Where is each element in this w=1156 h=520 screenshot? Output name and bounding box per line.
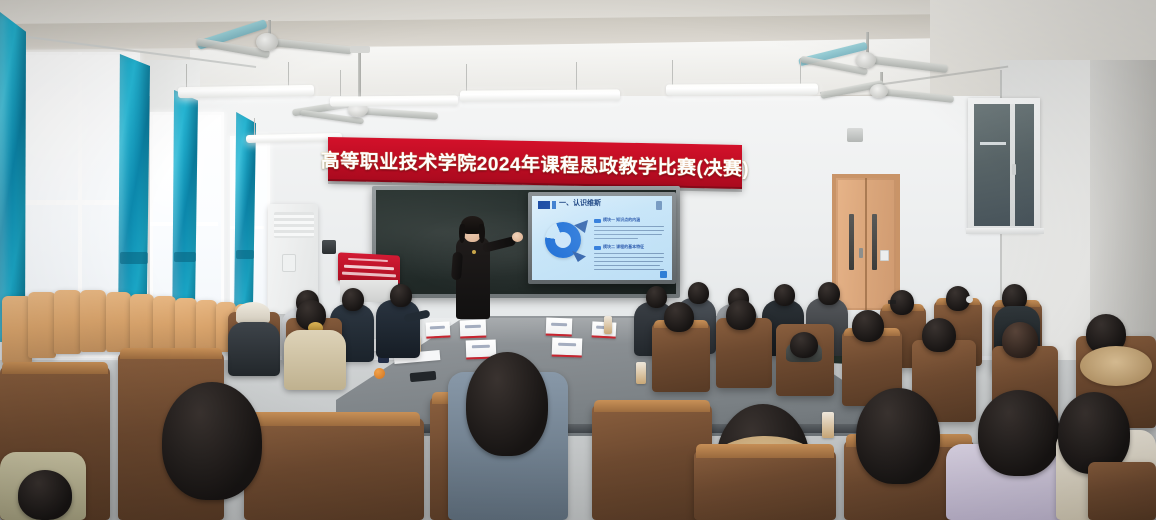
slide-title: 一、认识维斯 [559,199,601,209]
wall-control-panel [322,240,336,254]
table-placard-6 [426,321,451,338]
stacked-chair-2 [28,292,56,358]
lamp-1-wire-b [288,62,289,86]
slide-title-accent [538,201,550,209]
chair-front-6 [694,450,836,520]
audience-front-7-head [856,388,940,484]
stacked-chair-8 [175,298,197,352]
slide-section-1-heading: 模块一 知识点的内涵 [603,217,640,223]
slide-donut-hole [555,232,571,248]
judge-8-head [818,282,840,305]
slide-section-2-heading: 模块二 课程的基本特征 [603,244,644,250]
classroom-photo-scene: 高等职业技术学院2024年课程思政教学比赛(决赛) 一、认识维斯 模块一 知识点… [0,0,1156,520]
judge-7-head [774,284,795,306]
table-placard-4-text [558,343,576,347]
chair-front-8 [1088,462,1156,520]
slide-footer-icon [660,271,667,278]
door-center-seam [865,178,867,310]
audience-mid-4-head [726,300,756,330]
audience-mid-1-beret [236,302,270,324]
table-placard-2-text [472,345,490,349]
slide-bullet-line-5 [594,269,664,270]
lamp-1-wire [186,64,187,88]
slide-section-1-marker [594,219,601,223]
table-placard-1-text [465,325,481,329]
chair-front-6-top [696,444,834,458]
lamp-3-wire-b [576,62,577,90]
audience-front-4-head [466,352,548,456]
interior-window-light [980,142,1006,145]
slide-body-line-2 [594,230,664,231]
table-placard-6-text [430,326,445,330]
slide-title-accent-2 [552,201,556,209]
interior-window-sill [966,228,1044,234]
slide-bullet-line-4 [594,265,660,266]
podium-sign-line-2 [344,265,394,271]
lamp-4-wire [672,60,673,86]
stacked-chair-4 [80,290,106,352]
air-conditioner-panel [282,254,296,272]
chair-front-2-top [120,348,222,359]
audience-mid-9-fur-collar [1080,346,1152,386]
audience-right-1-glasses [888,300,896,304]
table-placard-3-text [551,323,567,327]
slide-logo-icon [656,201,662,210]
slide-bullet-line-3 [594,261,663,262]
window-left-1-glare [16,54,132,204]
interior-window-glass [974,104,1034,226]
judge-4-head [646,286,667,308]
curtain-2-tieback [120,252,148,264]
fan-3-hub [856,52,876,68]
chair-front-3-top [248,412,420,426]
chair-mid-3 [652,322,710,392]
pendant-light-4 [666,83,818,95]
audience-mid-1-torso [228,322,280,376]
judge-5-head [688,282,709,304]
slide-section-2-marker [594,246,601,250]
table-placard-1 [460,320,487,339]
door-vision-panel-right [872,214,877,270]
audience-mid-7-head [922,318,956,352]
orange-fruit [374,368,385,379]
lamp-3-wire [466,64,467,92]
thermos-cup-3 [636,362,646,384]
door-vision-panel-left [849,214,854,270]
slide-bullet-line-1 [594,253,664,254]
presenter-brooch [472,250,476,254]
audience-mid-5-head [790,332,818,358]
event-banner-text: 高等职业技术学院2024年课程思政教学比赛(决赛) [321,145,749,180]
stacked-chair-6 [130,294,154,352]
curtain-1 [0,12,26,342]
podium-sign-line-3 [342,272,396,278]
judge-3-torso [376,300,420,358]
curtain-4-tieback [236,250,254,259]
pendant-light-3 [460,89,620,101]
chair-front-1-top [2,362,108,374]
presenter-hair-side-right [479,224,485,243]
presenter-arm-left [451,252,463,281]
lamp-2-wire [340,70,341,96]
light-switch[interactable] [880,250,889,261]
air-conditioner-vent [274,212,314,238]
slide-body-line-1 [594,226,664,227]
slide-body-line-4 [594,238,638,239]
presenter-hand [512,232,523,242]
fan-2-rod [358,50,361,102]
stacked-chair-5 [106,292,131,352]
judge-3-head [390,284,412,307]
fan-2-canopy [350,46,370,53]
table-placard-3 [546,318,573,337]
wall-speaker [847,128,863,142]
pendant-light-2 [330,95,458,106]
chair-front-5-top [594,400,710,412]
fan-1-hub [256,33,278,51]
presenter-hair-side-left [459,224,465,243]
presentation-slide: 一、认识维斯 模块一 知识点的内涵 模块二 课程的基本特征 [532,196,672,280]
audience-mid-6-head [852,310,884,342]
audience-front-left-head [18,470,72,520]
interior-window-handle[interactable] [1012,164,1016,175]
chair-front-3 [244,418,424,520]
audience-right-2-hairtie [966,296,973,303]
audience-front-3-head [162,382,262,500]
lamp-5-wire [254,118,255,136]
podium-sign [338,252,400,283]
audience-mid-2-torso [284,330,346,390]
table-placard-4 [552,337,583,357]
door-handle[interactable] [859,248,863,258]
stacked-chair-3 [54,290,81,354]
thermos-cup-5 [822,412,834,438]
stacked-chair-9 [196,300,217,352]
audience-front-8-head [978,390,1060,476]
podium-sign-line-1 [348,258,388,262]
slide-body-line-3 [594,234,662,235]
audience-mid-3-head [664,302,694,332]
curtain-3-tieback [174,252,196,262]
stacked-chair-7 [153,296,176,352]
fan-4-hub [870,84,888,98]
judge-2-head [342,288,364,311]
slide-bullet-line-2 [594,257,664,258]
audience-mid-8-head [1002,322,1038,358]
thermos-cup-2 [604,316,612,334]
lamp-4-wire-b [800,58,801,84]
